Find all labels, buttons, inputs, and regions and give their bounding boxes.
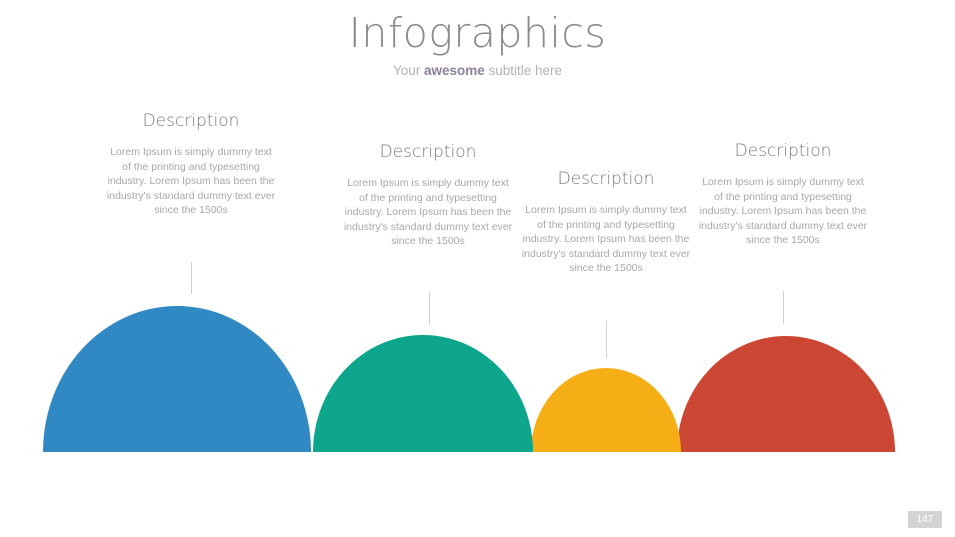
slide-header: Infographics Your awesome subtitle here xyxy=(0,8,955,80)
description-block-4: Description Lorem Ipsum is simply dummy … xyxy=(697,140,869,248)
description-block-1: Description Lorem Ipsum is simply dummy … xyxy=(105,110,277,218)
description-body-1: Lorem Ipsum is simply dummy text of the … xyxy=(105,145,277,218)
description-heading-1: Description xyxy=(105,110,277,132)
description-heading-3: Description xyxy=(520,168,692,190)
infographic-slide: Infographics Your awesome subtitle here … xyxy=(0,0,955,537)
description-block-3: Description Lorem Ipsum is simply dummy … xyxy=(520,168,692,276)
subtitle-prefix: Your xyxy=(393,63,424,78)
dome-shape-3[interactable] xyxy=(531,368,681,452)
description-body-2: Lorem Ipsum is simply dummy text of the … xyxy=(342,176,514,249)
dome-chart xyxy=(0,300,955,452)
description-block-2: Description Lorem Ipsum is simply dummy … xyxy=(342,141,514,249)
dome-shape-1[interactable] xyxy=(43,306,311,452)
dome-shape-4[interactable] xyxy=(677,336,895,452)
subtitle-suffix: subtitle here xyxy=(485,63,562,78)
subtitle-accent-word: awesome xyxy=(424,63,485,78)
page-number-badge: 147 xyxy=(908,511,942,528)
description-heading-4: Description xyxy=(697,140,869,162)
connector-line-1 xyxy=(191,262,192,294)
page-title: Infographics xyxy=(0,8,955,58)
description-heading-2: Description xyxy=(342,141,514,163)
description-body-3: Lorem Ipsum is simply dummy text of the … xyxy=(520,203,692,276)
description-body-4: Lorem Ipsum is simply dummy text of the … xyxy=(697,175,869,248)
dome-shape-2[interactable] xyxy=(313,335,533,452)
page-subtitle: Your awesome subtitle here xyxy=(0,62,955,80)
